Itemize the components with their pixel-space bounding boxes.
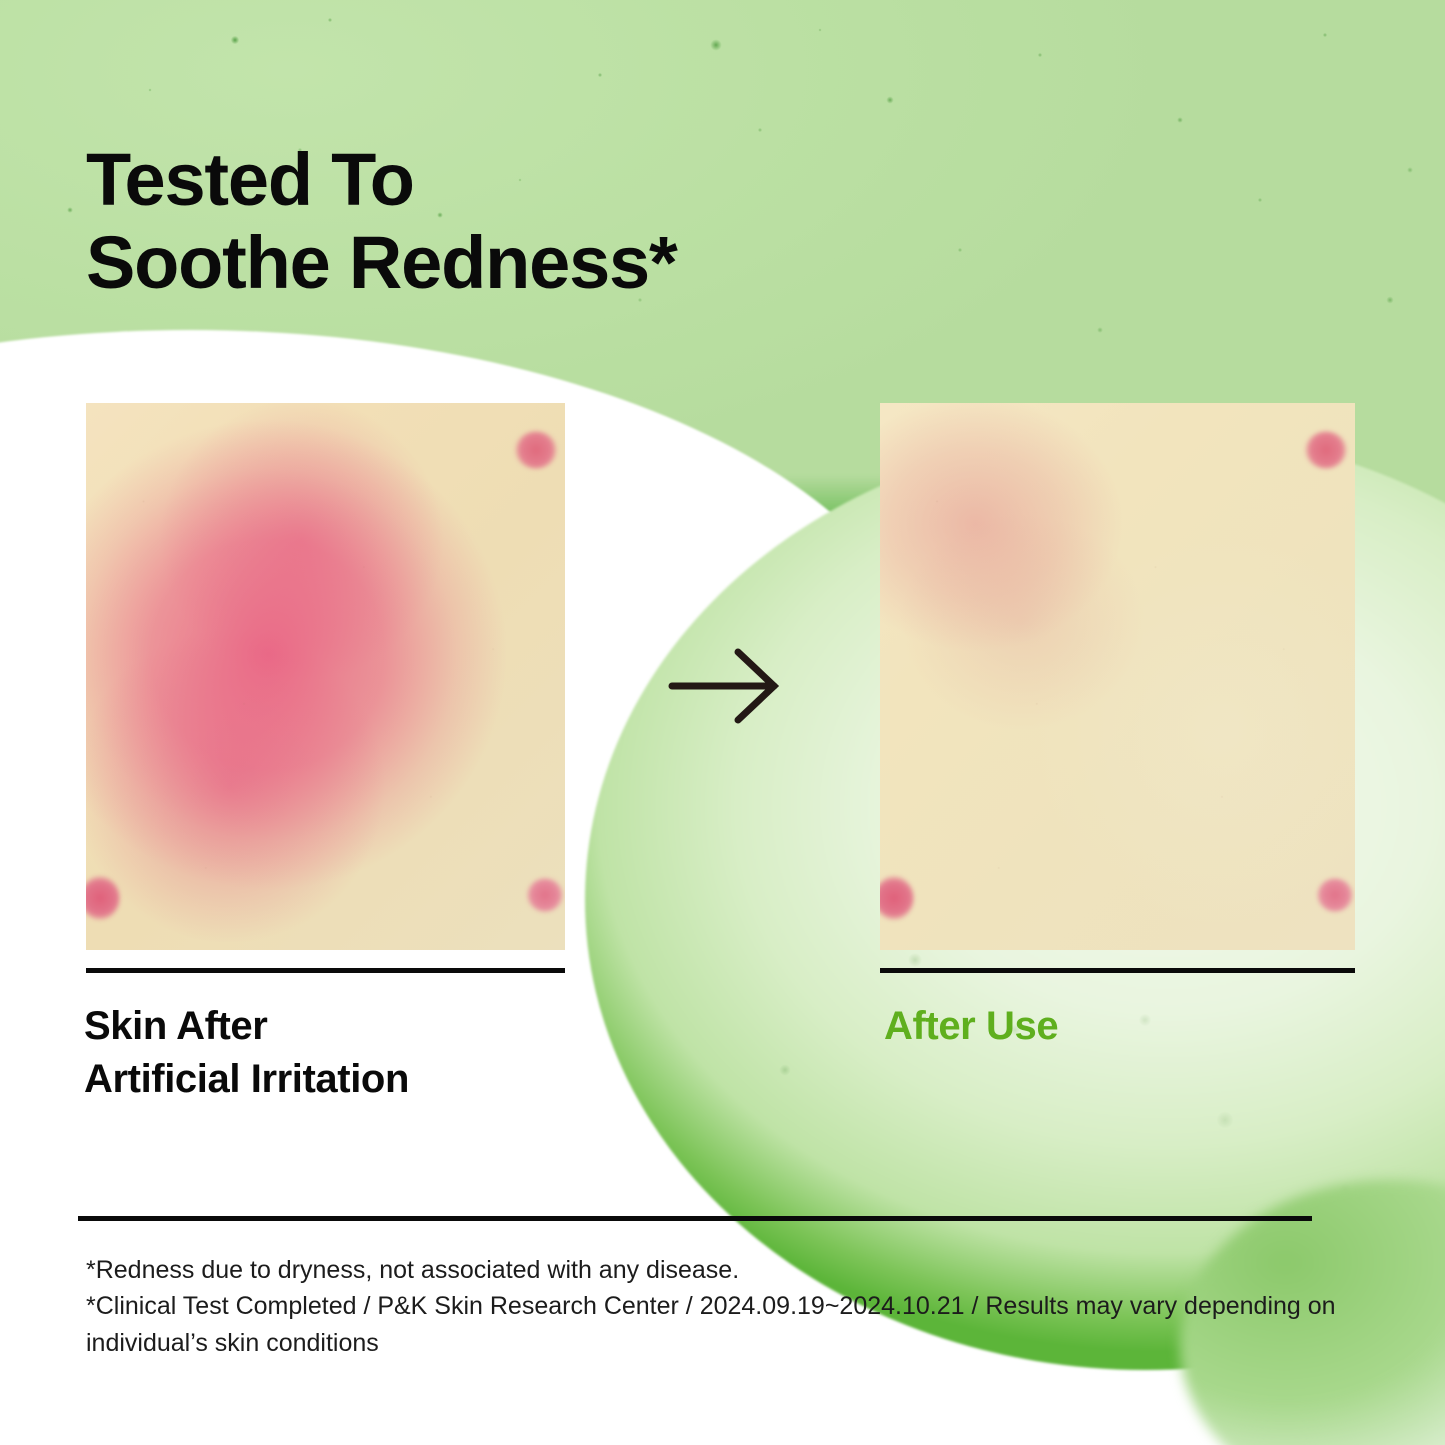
skin-spot-top-right [515, 431, 557, 469]
arrow-right-icon [666, 644, 786, 728]
after-skin-photo [880, 403, 1355, 950]
before-caption-line-2: Artificial Irritation [84, 1057, 409, 1101]
footnote-line-1: *Redness due to dryness, not associated … [86, 1252, 1356, 1288]
before-caption-rule [86, 968, 565, 973]
skin-spot-bottom-right [1317, 878, 1353, 912]
footnote-divider-rule [78, 1216, 1312, 1221]
after-skin-grain [880, 403, 1355, 950]
before-skin-photo [86, 403, 565, 950]
before-skin-grain [86, 403, 565, 950]
after-caption-label: After Use [884, 1004, 1058, 1048]
skin-spot-top-right [1305, 431, 1347, 469]
page-title: Tested To Soothe Redness* [86, 138, 986, 305]
skin-spot-bottom-right [527, 878, 563, 912]
promo-image-root: Tested To Soothe Redness* Skin After Art… [0, 0, 1445, 1445]
headline-line-2: Soothe Redness* [86, 221, 986, 305]
before-caption-line-1: Skin After [84, 1004, 267, 1048]
after-caption-rule [880, 968, 1355, 973]
footnote-block: *Redness due to dryness, not associated … [86, 1252, 1356, 1361]
footnote-line-2: *Clinical Test Completed / P&K Skin Rese… [86, 1288, 1356, 1324]
after-caption: After Use [884, 1000, 1384, 1053]
footnote-line-3: individual’s skin conditions [86, 1325, 1356, 1361]
before-caption: Skin After Artificial Irritation [84, 1000, 684, 1106]
headline-line-1: Tested To [86, 138, 414, 221]
